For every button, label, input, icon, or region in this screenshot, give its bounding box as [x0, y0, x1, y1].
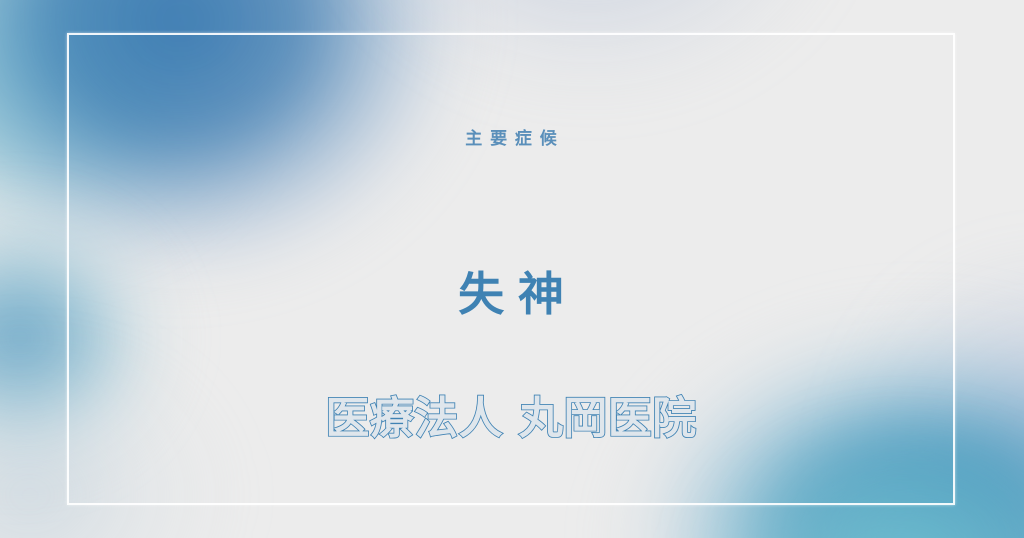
category-label: 主要症候 — [67, 131, 955, 148]
slide-content: 主要症候 失神 医療法人 丸岡医院 — [67, 33, 955, 505]
organization-name: 医療法人 丸岡医院 — [67, 396, 955, 442]
slide-title: 失神 — [67, 271, 955, 317]
title-slide: 主要症候 失神 医療法人 丸岡医院 — [0, 0, 1024, 538]
